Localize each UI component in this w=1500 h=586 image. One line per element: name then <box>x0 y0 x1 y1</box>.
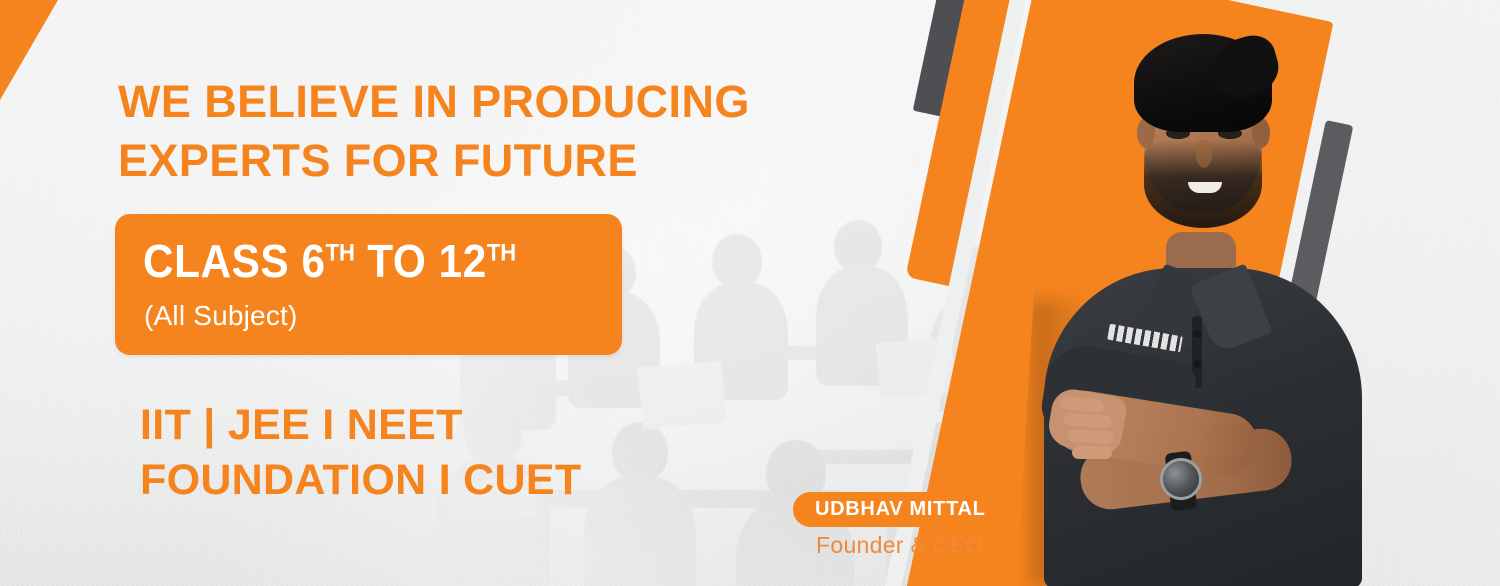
courses-line-2: FOUNDATION I CUET <box>140 453 581 508</box>
class-range-text: CLASS 6TH TO 12TH <box>143 234 516 288</box>
portrait-finger-3 <box>1068 429 1114 444</box>
class-subtitle: (All Subject) <box>144 300 298 332</box>
portrait-finger-4 <box>1072 446 1112 459</box>
class-sup-1: TH <box>326 240 355 267</box>
promo-banner: WE BELIEVE IN PRODUCING EXPERTS FOR FUTU… <box>0 0 1500 586</box>
courses-line-1: IIT | JEE I NEET <box>140 401 463 449</box>
banner-content: WE BELIEVE IN PRODUCING EXPERTS FOR FUTU… <box>0 0 760 586</box>
courses-list: IIT | JEE I NEET FOUNDATION I CUET <box>140 398 581 508</box>
class-sup-2: TH <box>487 240 516 267</box>
class-range-badge: CLASS 6TH TO 12TH (All Subject) <box>115 214 622 355</box>
headline-line-1: WE BELIEVE IN PRODUCING <box>118 76 750 127</box>
portrait-button-bottom <box>1193 360 1201 368</box>
headline-line-2: EXPERTS FOR FUTURE <box>118 131 838 190</box>
class-middle: TO 12 <box>355 235 487 287</box>
founder-name: UDBHAV MITTAL <box>793 492 1004 527</box>
portrait-nose <box>1196 140 1212 168</box>
founder-role: Founder & CEO <box>816 532 984 559</box>
class-prefix: CLASS 6 <box>143 235 326 287</box>
founder-nameplate: UDBHAV MITTAL Founder & CEO <box>780 492 1110 572</box>
headline: WE BELIEVE IN PRODUCING EXPERTS FOR FUTU… <box>118 72 838 191</box>
portrait-button-top <box>1193 330 1201 338</box>
